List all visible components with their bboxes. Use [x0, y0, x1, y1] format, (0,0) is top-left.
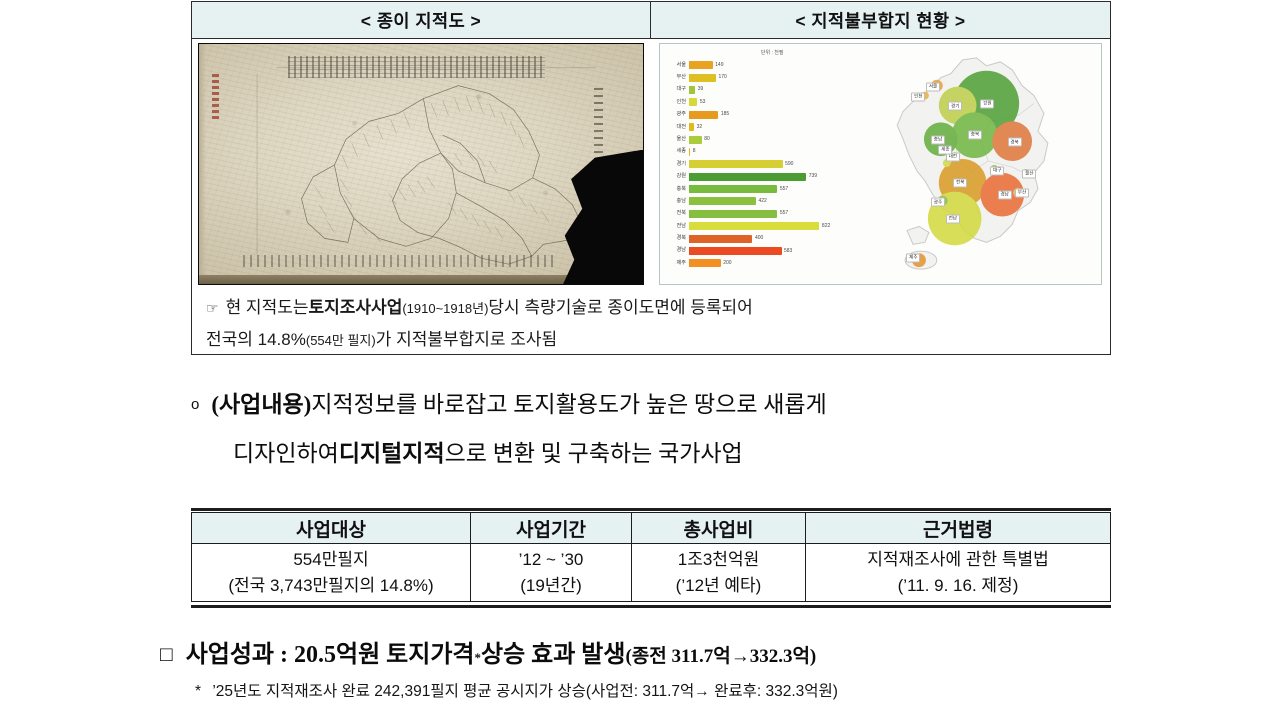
- bar-row: 광주185: [664, 109, 852, 121]
- bar-value-label: 8: [693, 149, 696, 154]
- footnote-star-icon: *: [195, 683, 201, 700]
- legal-value-line2: (’11. 9. 16. 제정): [810, 573, 1106, 599]
- bar-fill: [689, 247, 782, 255]
- bar-row: 경기590: [664, 158, 852, 170]
- map-region-label: 울산: [1022, 169, 1036, 178]
- figure-title-paper-cadastral-map: < 종이 지적도 >: [192, 2, 651, 38]
- bar-category-label: 인천: [664, 100, 689, 105]
- map-region-label: 인천: [911, 92, 925, 101]
- business-content-text-2b: 으로 변환 및 구축하는 국가사업: [445, 431, 743, 477]
- bar-value-label: 185: [721, 112, 729, 117]
- bar-track: 557: [689, 185, 852, 193]
- map-region-label: 세종: [938, 145, 952, 154]
- bar-row: 세종8: [664, 146, 852, 158]
- map-left-edge-wear: [199, 44, 206, 284]
- map-region-label: 부산: [1015, 188, 1029, 197]
- legal-value-line1: 지적재조사에 관한 특별법: [810, 547, 1106, 573]
- table-cell-budget: 1조3천억원 (’12년 예타): [632, 544, 806, 602]
- bar-track: 8: [689, 148, 852, 156]
- bar-track: 39: [689, 86, 852, 94]
- map-region-label: 경북: [1008, 138, 1022, 147]
- bar-category-label: 경기: [664, 162, 689, 167]
- bar-track: 822: [689, 222, 852, 230]
- project-summary-table: 사업대상 사업기간 총사업비 근거법령 554만필지 (전국 3,743만필지의…: [191, 512, 1111, 602]
- bar-value-label: 170: [718, 75, 726, 80]
- table-header-row: 사업대상 사업기간 총사업비 근거법령: [192, 513, 1111, 544]
- bar-category-label: 대전: [664, 125, 689, 130]
- bar-category-label: 전북: [664, 211, 689, 216]
- bar-track: 170: [689, 74, 852, 82]
- table-header-period: 사업기간: [471, 513, 632, 544]
- bar-track: 590: [689, 160, 852, 168]
- bar-fill: [689, 222, 819, 230]
- map-region-label: 경기: [948, 102, 962, 111]
- business-content-line-1: o (사업내용) 지적정보를 바로잡고 토지활용도가 높은 땅으로 새롭게: [191, 382, 1121, 431]
- project-result-footnote: * ’25년도 지적재조사 완료 242,391필지 평균 공시지가 상승(사업…: [160, 681, 1180, 703]
- table-header-legal: 근거법령: [806, 513, 1111, 544]
- bar-track: 583: [689, 247, 852, 255]
- table-cell-legal: 지적재조사에 관한 특별법 (’11. 9. 16. 제정): [806, 544, 1111, 602]
- bar-row: 경남583: [664, 245, 852, 257]
- bar-fill: [689, 197, 756, 205]
- caption-text-years: (1910~1918년): [402, 293, 488, 324]
- bar-category-label: 경북: [664, 236, 689, 241]
- bar-row: 서울149: [664, 59, 852, 71]
- table-header-budget: 총사업비: [632, 513, 806, 544]
- bar-category-label: 울산: [664, 137, 689, 142]
- mismatch-status-figure: 단위 : 천필 서울149부산170대구39인천53광주185대전32울산80세…: [651, 39, 1110, 289]
- bar-value-label: 590: [785, 162, 793, 167]
- mismatch-statistics-graphic: 단위 : 천필 서울149부산170대구39인천53광주185대전32울산80세…: [659, 43, 1102, 285]
- bar-row: 제주200: [664, 257, 852, 269]
- bar-track: 32: [689, 123, 852, 131]
- caption-text-d: 가 지적불부합지로 조사됨: [376, 324, 558, 355]
- korea-outline: [854, 44, 1101, 284]
- bar-value-label: 822: [822, 224, 830, 229]
- map-region-label: 서울: [926, 83, 940, 92]
- figure-panel-body: 단위 : 천필 서울149부산170대구39인천53광주185대전32울산80세…: [192, 39, 1110, 289]
- bar-track: 149: [689, 61, 852, 69]
- map-region-label: 강원: [980, 100, 994, 109]
- bar-value-label: 53: [700, 100, 706, 105]
- bar-track: 422: [689, 197, 852, 205]
- bar-category-label: 충남: [664, 199, 689, 204]
- bar-value-label: 739: [809, 174, 817, 179]
- budget-value-line1: 1조3천억원: [636, 547, 801, 573]
- bar-track: 400: [689, 235, 852, 243]
- project-result-headline: □ 사업성과 : 20.5억원 토지가격 * 상승 효과 발생 (종전 311.…: [160, 638, 1180, 675]
- result-headline-text: 사업성과 : 20.5억원 토지가격: [186, 638, 475, 672]
- business-content-keyword: 디지털지적: [339, 431, 445, 477]
- business-content-text-1: 지적정보를 바로잡고 토지활용도가 높은 땅으로 새롭게: [311, 382, 826, 428]
- bar-row: 충남422: [664, 195, 852, 207]
- bar-track: 80: [689, 136, 852, 144]
- footnote-text: ’25년도 지적재조사 완료 242,391필지 평균 공시지가 상승(사업전:…: [212, 683, 838, 700]
- bar-category-label: 충북: [664, 187, 689, 192]
- table-row: 554만필지 (전국 3,743만필지의 14.8%) ’12 ~ ’30 (1…: [192, 544, 1111, 602]
- bar-value-label: 80: [704, 137, 710, 142]
- bar-category-label: 서울: [664, 63, 689, 68]
- bar-value-label: 557: [780, 187, 788, 192]
- bar-row: 대구39: [664, 84, 852, 96]
- paper-cadastral-map-figure: [192, 39, 651, 289]
- map-region-label: 광주: [931, 198, 945, 207]
- square-bullet-icon: □: [160, 638, 173, 672]
- bar-row: 울산80: [664, 133, 852, 145]
- caption-text-b: 당시 측량기술로 종이도면에 등록되어: [488, 292, 752, 323]
- korea-bubble-map: 서울인천경기강원충북충남대전세종전북전남광주경북경남대구울산부산제주: [854, 44, 1101, 284]
- bar-value-label: 400: [755, 236, 763, 241]
- bar-fill: [689, 210, 777, 218]
- bar-fill: [689, 235, 752, 243]
- map-region-label: 충남: [931, 136, 945, 145]
- table-header-target: 사업대상: [192, 513, 471, 544]
- bar-track: 200: [689, 259, 852, 267]
- bar-row: 충북557: [664, 183, 852, 195]
- business-content-text-2a: 디자인하여: [233, 431, 339, 477]
- caption-text-a: 현 지적도는: [226, 292, 309, 323]
- bar-row: 강원739: [664, 171, 852, 183]
- bar-category-label: 제주: [664, 261, 689, 266]
- period-value-line1: ’12 ~ ’30: [475, 547, 627, 573]
- bar-fill: [689, 61, 713, 69]
- bar-list: 서울149부산170대구39인천53광주185대전32울산80세종8경기590강…: [664, 59, 852, 270]
- bar-value-label: 149: [715, 63, 723, 68]
- business-content-line-2: 디자인하여 디지털지적 으로 변환 및 구축하는 국가사업: [191, 431, 1121, 477]
- business-content-paragraph: o (사업내용) 지적정보를 바로잡고 토지활용도가 높은 땅으로 새롭게 디자…: [191, 382, 1121, 477]
- regional-bar-chart: 단위 : 천필 서울149부산170대구39인천53광주185대전32울산80세…: [660, 44, 854, 284]
- result-headline-tail: 상승 효과 발생: [481, 638, 625, 672]
- bar-fill: [689, 148, 690, 156]
- target-value-line1: 554만필지: [196, 547, 466, 573]
- bar-category-label: 전남: [664, 224, 689, 229]
- bar-fill: [689, 173, 806, 181]
- bar-value-label: 200: [723, 261, 731, 266]
- bar-fill: [689, 98, 697, 106]
- bar-fill: [689, 160, 783, 168]
- bar-fill: [689, 111, 718, 119]
- figure-panel: < 종이 지적도 > < 지적불부합지 현황 >: [191, 1, 1111, 355]
- old-paper-map-image: [198, 43, 644, 285]
- chart-unit-label: 단위 : 천필: [761, 49, 784, 56]
- bar-track: 185: [689, 111, 852, 119]
- bar-row: 경북400: [664, 232, 852, 244]
- caption-line-2: 전국의 14.8% (554만 필지) 가 지적불부합지로 조사됨: [206, 324, 1098, 356]
- map-region-label: 전북: [953, 179, 967, 188]
- bar-row: 부산170: [664, 71, 852, 83]
- bar-category-label: 대구: [664, 87, 689, 92]
- bar-value-label: 32: [697, 125, 703, 130]
- bar-track: 557: [689, 210, 852, 218]
- bar-category-label: 광주: [664, 112, 689, 117]
- bar-fill: [689, 259, 721, 267]
- figure-panel-header: < 종이 지적도 > < 지적불부합지 현황 >: [192, 2, 1110, 39]
- budget-value-line2: (’12년 예타): [636, 573, 801, 599]
- bar-category-label: 부산: [664, 75, 689, 80]
- figure-caption: ☞ 현 지적도는 토지조사사업 (1910~1918년) 당시 측량기술로 종이…: [192, 288, 1110, 354]
- business-content-label: (사업내용): [211, 382, 311, 428]
- table-cell-period: ’12 ~ ’30 (19년간): [471, 544, 632, 602]
- bar-value-label: 422: [758, 199, 766, 204]
- table-top-rule: [191, 508, 1111, 511]
- bar-value-label: 583: [784, 249, 792, 254]
- caption-line-1: ☞ 현 지적도는 토지조사사업 (1910~1918년) 당시 측량기술로 종이…: [206, 292, 1098, 324]
- target-value-line2: (전국 3,743만필지의 14.8%): [196, 573, 466, 599]
- table-bottom-rule: [191, 605, 1111, 608]
- map-region-label: 제주: [906, 253, 920, 262]
- pointing-hand-icon: ☞: [206, 293, 219, 324]
- map-region-label: 대구: [990, 167, 1004, 176]
- result-headline-paren: (종전 311.7억→332.3억): [625, 640, 816, 674]
- bar-track: 53: [689, 98, 852, 106]
- bar-track: 739: [689, 173, 852, 181]
- bar-fill: [689, 185, 777, 193]
- project-result-section: □ 사업성과 : 20.5억원 토지가격 * 상승 효과 발생 (종전 311.…: [160, 638, 1180, 703]
- bar-category-label: 경남: [664, 248, 689, 253]
- map-region-label: 전남: [946, 215, 960, 224]
- bar-category-label: 강원: [664, 174, 689, 179]
- bar-value-label: 39: [698, 87, 704, 92]
- circle-bullet-icon: o: [191, 382, 199, 428]
- bar-fill: [689, 74, 716, 82]
- map-region-label: 충북: [968, 131, 982, 140]
- figure-title-mismatch-status: < 지적불부합지 현황 >: [651, 2, 1110, 38]
- bar-row: 대전32: [664, 121, 852, 133]
- bar-row: 전북557: [664, 208, 852, 220]
- period-value-line2: (19년간): [475, 573, 627, 599]
- map-region-label: 경남: [998, 191, 1012, 200]
- caption-text-bold: 토지조사사업: [309, 292, 403, 323]
- bar-fill: [689, 86, 695, 94]
- bar-fill: [689, 136, 702, 144]
- table-cell-target: 554만필지 (전국 3,743만필지의 14.8%): [192, 544, 471, 602]
- caption-text-parcels: (554만 필지): [306, 325, 376, 356]
- bar-row: 전남822: [664, 220, 852, 232]
- bar-value-label: 557: [780, 211, 788, 216]
- caption-text-c: 전국의 14.8%: [206, 324, 306, 355]
- map-bottom-edge-wear: [199, 275, 572, 284]
- bar-category-label: 세종: [664, 149, 689, 154]
- bar-fill: [689, 123, 694, 131]
- bar-row: 인천53: [664, 96, 852, 108]
